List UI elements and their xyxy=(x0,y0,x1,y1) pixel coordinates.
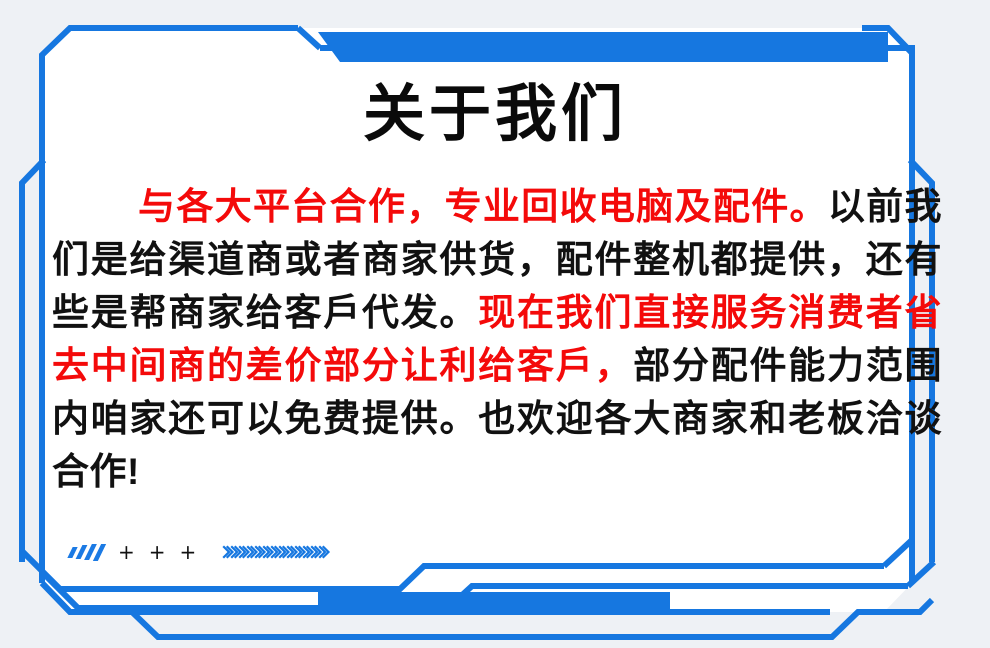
poster-content: 关于我们 与各大平台合作，专业回收电脑及配件。以前我们是给渠道商或者商家供货，配… xyxy=(0,0,990,648)
about-us-paragraph: 与各大平台合作，专业回收电脑及配件。以前我们是给渠道商或者商家供货，配件整机都提… xyxy=(52,180,942,498)
plus-icon: + xyxy=(118,542,135,562)
paragraph-segment-highlight-1: 与各大平台合作，专业回收电脑及配件。 xyxy=(138,186,828,227)
slash-marks-icon xyxy=(70,542,102,562)
about-us-poster: 关于我们 与各大平台合作，专业回收电脑及配件。以前我们是给渠道商或者商家供货，配… xyxy=(0,0,990,648)
plus-icon: + xyxy=(180,542,197,562)
page-title: 关于我们 xyxy=(0,79,990,151)
chevron-marks-icon xyxy=(222,542,332,562)
plus-icon: + xyxy=(149,542,166,562)
decoration-row: + + + xyxy=(70,538,332,566)
plus-marks-group: + + + xyxy=(118,542,196,562)
